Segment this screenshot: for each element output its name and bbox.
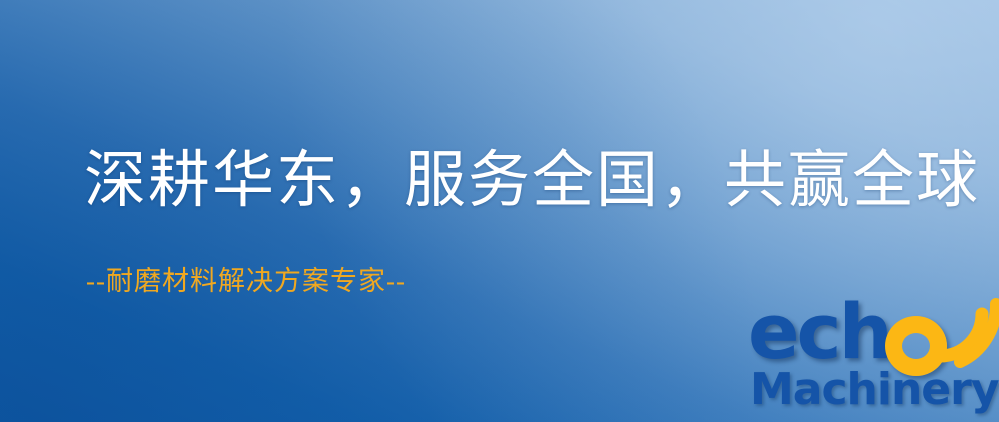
logo-tagline-text: Machinery [750,364,999,415]
banner-headline: 深耕华东，服务全国，共赢全球 [84,150,980,212]
logo-tagline: Machinery® [750,368,999,412]
banner-subtitle: --耐磨材料解决方案专家-- [86,268,406,295]
echo-machinery-logo: ech Machinery® [748,300,999,422]
promotional-banner: 深耕华东，服务全国，共赢全球 --耐磨材料解决方案专家-- ech Machin… [0,0,999,422]
echo-signal-waves-icon [934,296,999,368]
logo-wordmark-text: ech [748,294,890,370]
